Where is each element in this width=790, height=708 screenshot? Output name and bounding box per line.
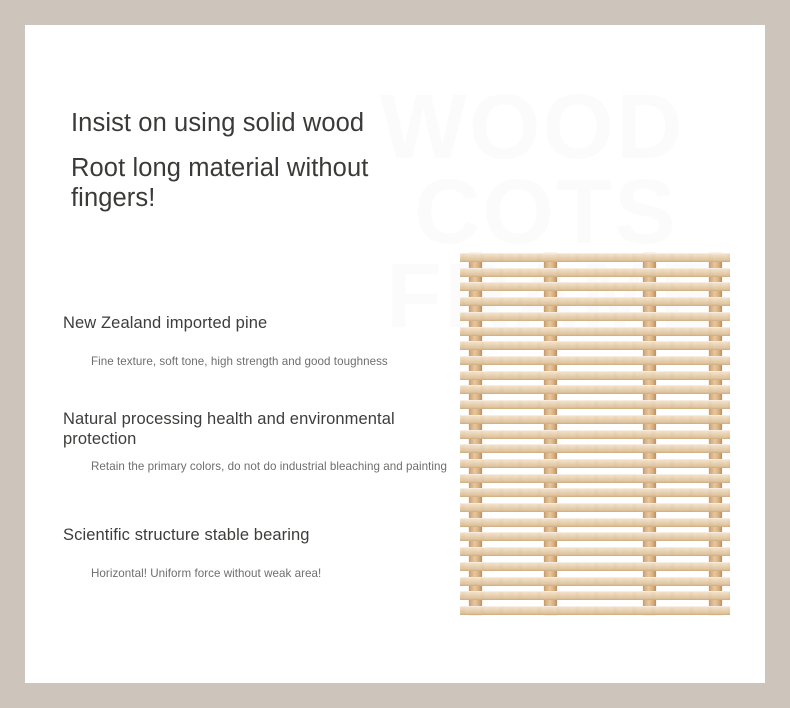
wood-slat <box>460 532 730 541</box>
wood-slat <box>460 503 730 512</box>
wood-slat <box>460 327 730 336</box>
watermark-line-2: COTS <box>414 170 760 255</box>
wood-slat <box>460 444 730 453</box>
wood-slat <box>460 268 730 277</box>
wood-slat <box>460 606 730 615</box>
feature-subtitle: Horizontal! Uniform force without weak a… <box>91 566 463 581</box>
feature-subtitle: Fine texture, soft tone, high strength a… <box>91 354 463 369</box>
wood-slat <box>460 474 730 483</box>
wood-slat <box>460 341 730 350</box>
feature-title: Scientific structure stable bearing <box>63 525 463 545</box>
wood-slat <box>460 488 730 497</box>
wood-slat <box>460 400 730 409</box>
watermark-line-1: WOOD <box>380 85 760 170</box>
content-canvas: WOOD COTS FRAME Insist on using solid wo… <box>25 25 765 683</box>
wood-slat <box>460 430 730 439</box>
wood-slat <box>460 415 730 424</box>
wood-slat <box>460 282 730 291</box>
wood-slat <box>460 371 730 380</box>
horizontal-slats <box>460 253 730 615</box>
wood-slat <box>460 385 730 394</box>
feature-item-structure: Scientific structure stable bearing Hori… <box>63 525 463 581</box>
feature-subtitle: Retain the primary colors, do not do ind… <box>91 459 463 474</box>
wood-slat <box>460 297 730 306</box>
feature-title: Natural processing health and environmen… <box>63 409 463 449</box>
wood-slat <box>460 547 730 556</box>
wood-slat <box>460 591 730 600</box>
headline-line-2: Root long material without fingers! <box>71 154 431 213</box>
wood-slat <box>460 562 730 571</box>
wood-slat <box>460 518 730 527</box>
page-root: WOOD COTS FRAME Insist on using solid wo… <box>0 0 790 708</box>
wood-slat <box>460 312 730 321</box>
headline-block: Insist on using solid wood Root long mat… <box>71 109 431 213</box>
wood-slat <box>460 459 730 468</box>
feature-item-natural-processing: Natural processing health and environmen… <box>63 409 463 475</box>
product-image-wooden-slat-bed-base <box>460 253 730 615</box>
wood-slat <box>460 356 730 365</box>
feature-title: New Zealand imported pine <box>63 313 463 333</box>
wood-slat <box>460 577 730 586</box>
headline-line-1: Insist on using solid wood <box>71 109 431 138</box>
wood-slat <box>460 253 730 262</box>
feature-item-pine: New Zealand imported pine Fine texture, … <box>63 313 463 369</box>
